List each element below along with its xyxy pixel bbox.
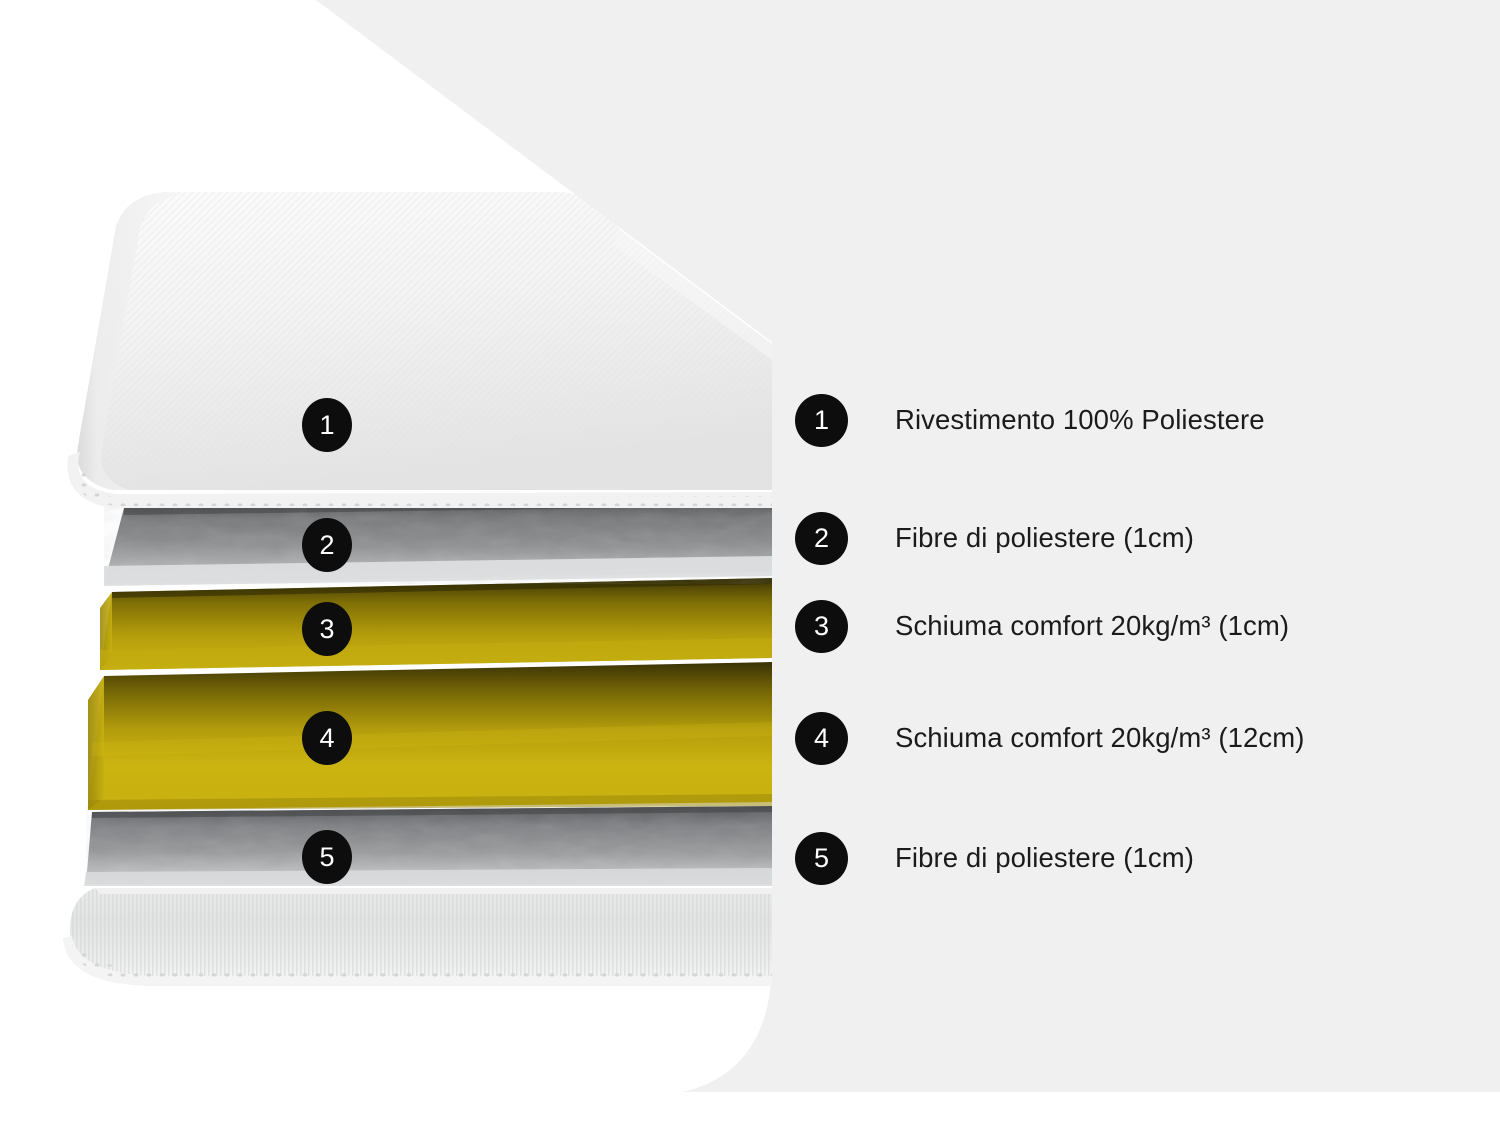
legend-badge-5-number: 5 xyxy=(814,845,829,872)
legend-badge-2: 2 xyxy=(795,512,848,565)
legend-badge-4: 4 xyxy=(795,712,848,765)
legend-badge-2-number: 2 xyxy=(814,525,829,552)
mattress-badge-2-number: 2 xyxy=(319,532,334,559)
legend-label-3: Schiuma comfort 20kg/m³ (1cm) xyxy=(895,610,1289,642)
legend-label-5: Fibre di poliestere (1cm) xyxy=(895,842,1194,874)
legend-item-3: 3 Schiuma comfort 20kg/m³ (1cm) xyxy=(795,598,1289,654)
mattress-badge-1-number: 1 xyxy=(319,412,334,439)
mattress-badge-2: 2 xyxy=(302,518,352,572)
legend-item-1: 1 Rivestimento 100% Poliestere xyxy=(795,392,1265,448)
mattress-layer-5-fiber xyxy=(84,806,772,886)
mattress-layer-diagram: 1 2 3 4 5 1 Rivestimento 100% Poliestere… xyxy=(0,0,1500,1125)
legend-label-4: Schiuma comfort 20kg/m³ (12cm) xyxy=(895,722,1305,754)
mattress-stack: 1 2 3 4 5 xyxy=(0,0,790,1010)
mattress-badge-4-number: 4 xyxy=(319,725,334,752)
mattress-layer-3-foam-thin xyxy=(100,578,772,670)
legend-label-2: Fibre di poliestere (1cm) xyxy=(895,522,1194,554)
mattress-badge-1: 1 xyxy=(302,398,352,452)
legend-item-2: 2 Fibre di poliestere (1cm) xyxy=(795,510,1194,566)
mattress-badge-5: 5 xyxy=(302,830,352,884)
mattress-layer-4-foam-core xyxy=(88,662,772,810)
mattress-badge-5-number: 5 xyxy=(319,844,334,871)
mattress-layer-2-fiber xyxy=(104,500,772,586)
legend-badge-1-number: 1 xyxy=(814,407,829,434)
mattress-layer-1-cover xyxy=(67,192,772,508)
legend-badge-1: 1 xyxy=(795,394,848,447)
mattress-base-cover xyxy=(63,888,772,986)
mattress-badge-4: 4 xyxy=(302,711,352,765)
legend-badge-4-number: 4 xyxy=(814,725,829,752)
legend-badge-5: 5 xyxy=(795,832,848,885)
legend-badge-3: 3 xyxy=(795,600,848,653)
mattress-badge-3: 3 xyxy=(302,602,352,656)
legend-badge-3-number: 3 xyxy=(814,613,829,640)
legend-label-1: Rivestimento 100% Poliestere xyxy=(895,404,1265,436)
mattress-badge-3-number: 3 xyxy=(319,616,334,643)
legend-item-4: 4 Schiuma comfort 20kg/m³ (12cm) xyxy=(795,710,1305,766)
legend-item-5: 5 Fibre di poliestere (1cm) xyxy=(795,830,1194,886)
